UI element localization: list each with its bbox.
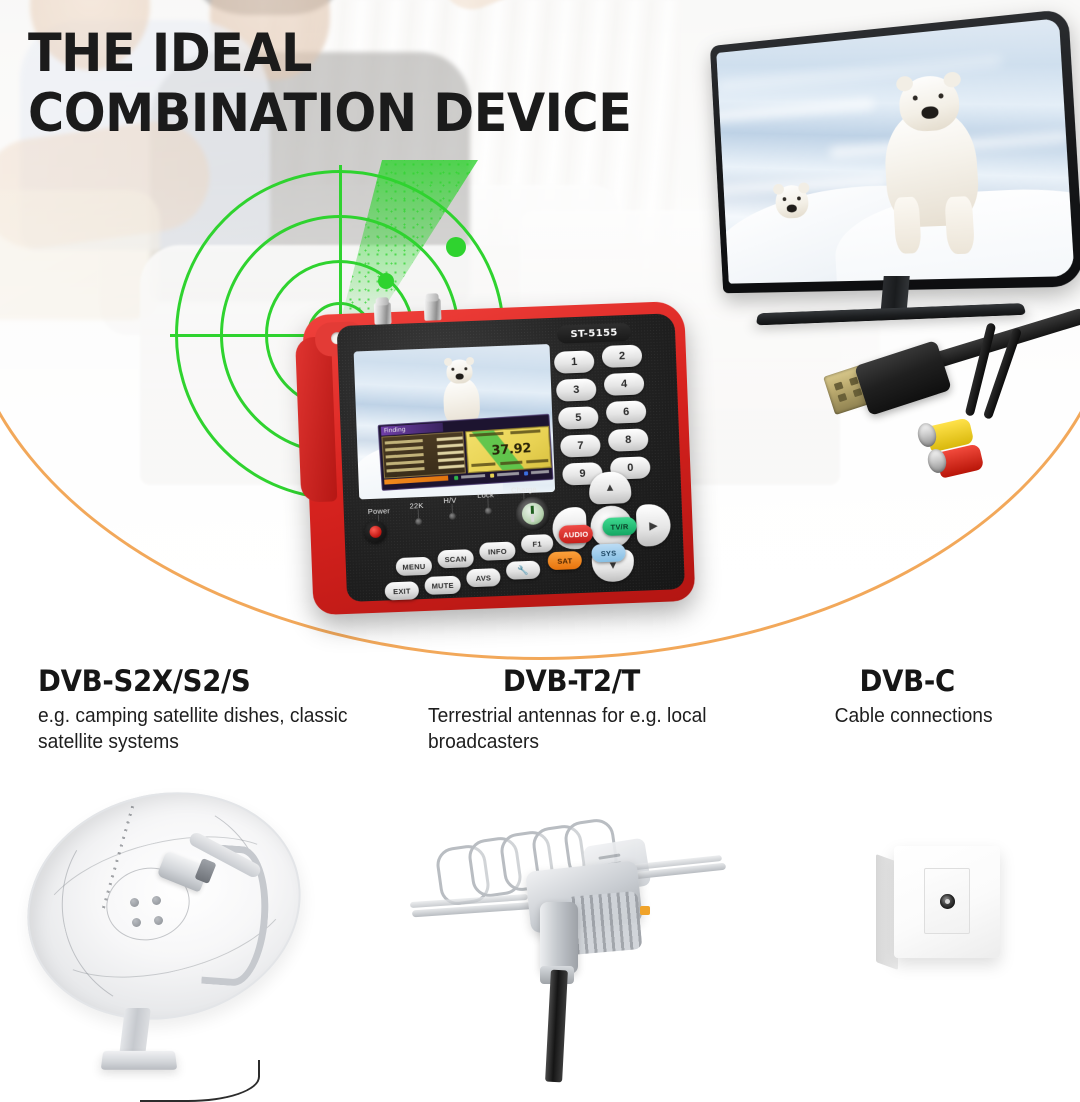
f-connector-left[interactable]: [374, 302, 392, 325]
f-connector-right[interactable]: [424, 298, 442, 321]
button-tvr[interactable]: TV/R: [602, 517, 637, 536]
osd-row: [387, 464, 465, 473]
feature-title-cable: DVB-C: [760, 664, 1064, 698]
button-avs[interactable]: AVS: [466, 568, 501, 587]
button-f1[interactable]: F1: [521, 534, 554, 553]
model-badge: ST-5155: [557, 323, 632, 344]
osd-legend-text: [497, 472, 519, 476]
outdoor-antenna-image: [418, 794, 718, 1080]
feature-column-cable: DVB-C Cable connections: [750, 664, 1080, 784]
hero-banner: THE IDEAL COMBINATION DEVICE: [0, 0, 1080, 660]
meter-lcd-screen: Finding 37.92: [354, 344, 556, 499]
button-sys[interactable]: SYS: [591, 543, 626, 562]
satellite-finder-meter: ST-5155 Finding: [294, 290, 706, 635]
osd-legend-text: [531, 470, 549, 474]
dish-bolt: [132, 918, 141, 927]
dish-bolt: [130, 898, 139, 907]
led-label-lock: Lock: [477, 490, 494, 500]
feature-desc-cable: Cable connections: [760, 703, 1067, 729]
osd-frequency-value: 37.92: [491, 441, 532, 459]
led-label-hv: H/V: [443, 496, 456, 505]
key-3[interactable]: 3: [556, 378, 597, 402]
button-menu[interactable]: MENU: [396, 557, 433, 576]
cable-wall-outlet-image: [876, 842, 1026, 992]
dish-coax-cable: [140, 1060, 260, 1102]
osd-signal-graph: 37.92: [465, 426, 552, 473]
headline-line-2: COMBINATION DEVICE: [28, 84, 679, 144]
lcd-bear-nose: [456, 373, 464, 379]
compass-needle: [531, 506, 535, 522]
satellite-dish-image: [10, 786, 380, 1080]
key-8[interactable]: 8: [608, 428, 649, 452]
feature-desc-satellite: e.g. camping satellite dishes, classic s…: [38, 703, 374, 755]
key-5[interactable]: 5: [558, 406, 599, 430]
headline-line-1: THE IDEAL: [28, 24, 679, 84]
button-mute[interactable]: MUTE: [424, 576, 461, 595]
key-4[interactable]: 4: [604, 372, 645, 396]
button-scan[interactable]: SCAN: [437, 549, 474, 568]
antenna-slot: [598, 853, 620, 859]
button-info[interactable]: INFO: [479, 541, 516, 560]
button-audio[interactable]: AUDIO: [558, 524, 593, 543]
osd-legend-swatch: [490, 474, 494, 478]
feature-title-satellite: DVB-S2X/S2/S: [38, 664, 391, 698]
key-6[interactable]: 6: [606, 400, 647, 424]
led-label-22k: 22K: [409, 501, 423, 511]
signal-finder-osd: Finding 37.92: [378, 414, 554, 491]
antenna-rotor-motor: [540, 902, 578, 974]
key-2[interactable]: 2: [602, 344, 643, 368]
connection-cables: [810, 330, 1080, 520]
dpad-right-button[interactable]: ▶: [636, 504, 672, 547]
antenna-orange-tag: [640, 906, 650, 915]
key-1[interactable]: 1: [554, 350, 595, 374]
feature-desc-terrestrial: Terrestrial antennas for e.g. local broa…: [428, 703, 735, 755]
dish-mount-neck: [119, 1008, 151, 1056]
antenna-mast: [545, 970, 568, 1083]
monitor-bezel: [710, 9, 1080, 293]
curved-tv-monitor: [700, 18, 1080, 338]
hdmi-pin: [834, 382, 844, 391]
feature-column-satellite: DVB-S2X/S2/S e.g. camping satellite dish…: [0, 664, 410, 784]
button-exit[interactable]: EXIT: [385, 581, 420, 600]
feature-title-terrestrial: DVB-T2/T: [428, 664, 734, 698]
key-7[interactable]: 7: [560, 434, 601, 458]
feature-column-terrestrial: DVB-T2/T Terrestrial antennas for e.g. l…: [410, 664, 750, 784]
outlet-coax-jack: [940, 894, 955, 909]
osd-parameter-list: [381, 431, 466, 478]
hdmi-connector-shell: [854, 340, 952, 416]
osd-legend-swatch: [524, 471, 528, 475]
bear-leg-left: [893, 196, 922, 253]
radar-blip: [378, 273, 394, 289]
dpad-up-button[interactable]: ▲: [588, 471, 631, 505]
product-illustrations: [0, 780, 1080, 1080]
compass-face: [522, 502, 545, 525]
power-led: [369, 526, 381, 538]
bear-leg-right: [944, 196, 975, 254]
button-sat[interactable]: SAT: [547, 551, 582, 570]
wrench-icon[interactable]: 🔧: [506, 561, 541, 580]
feature-columns: DVB-S2X/S2/S e.g. camping satellite dish…: [0, 664, 1080, 784]
dish-bolt: [152, 896, 161, 905]
meter-side-handle: [295, 336, 337, 502]
page-title: THE IDEAL COMBINATION DEVICE: [28, 24, 728, 145]
hdmi-pin: [837, 393, 847, 402]
monitor-screen: [716, 18, 1074, 283]
osd-legend-text: [461, 474, 485, 479]
radar-blip: [446, 237, 466, 257]
osd-legend-swatch: [454, 476, 458, 480]
dish-bolt: [154, 916, 163, 925]
